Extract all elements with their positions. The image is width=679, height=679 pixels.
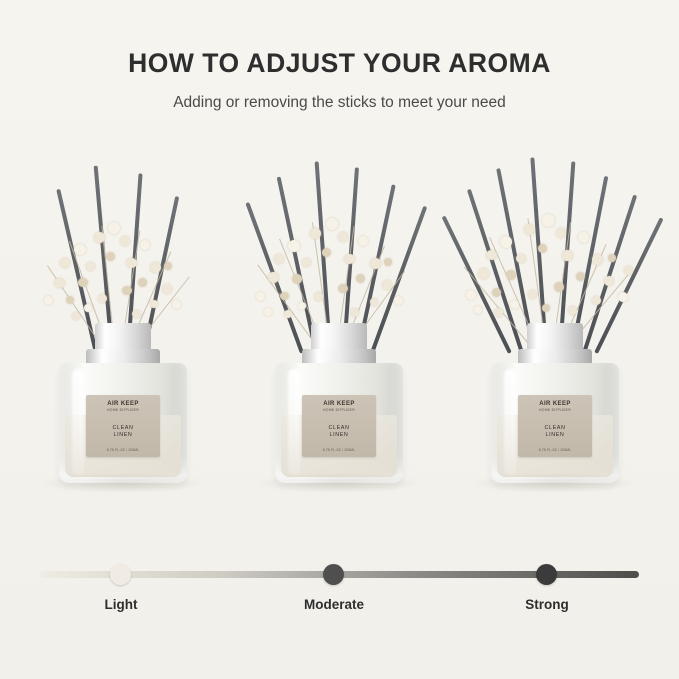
label-volume: 6.76 FL.OZ / 200ML — [107, 448, 139, 452]
product-group-moderate: AIR KEEP HOME DIFFUSER CLEAN LINEN 6.76 … — [234, 123, 444, 483]
intensity-slider[interactable] — [40, 567, 639, 581]
product-group-light: AIR KEEP HOME DIFFUSER CLEAN LINEN 6.76 … — [18, 123, 228, 483]
diffuser-bottle-moderate: AIR KEEP HOME DIFFUSER CLEAN LINEN 6.76 … — [275, 345, 403, 483]
bottle-body: AIR KEEP HOME DIFFUSER CLEAN LINEN 6.76 … — [59, 363, 187, 483]
slider-labels: Light Moderate Strong — [40, 597, 639, 617]
slider-label-strong: Strong — [525, 597, 569, 612]
product-group-strong: AIR KEEP HOME DIFFUSER CLEAN LINEN 6.76 … — [450, 123, 660, 483]
bottle-label: AIR KEEP HOME DIFFUSER CLEAN LINEN 6.76 … — [86, 395, 160, 457]
bottle-body: AIR KEEP HOME DIFFUSER CLEAN LINEN 6.76 … — [275, 363, 403, 483]
label-brand-sub: HOME DIFFUSER — [323, 408, 355, 412]
label-scent-line2: LINEN — [330, 432, 349, 439]
slider-knob-light[interactable] — [110, 564, 131, 585]
label-scent-line1: CLEAN — [545, 425, 566, 432]
label-brand-sub: HOME DIFFUSER — [107, 408, 139, 412]
label-scent-line2: LINEN — [546, 432, 565, 439]
label-volume: 6.76 FL.OZ / 200ML — [323, 448, 355, 452]
label-brand: AIR KEEP — [107, 401, 139, 407]
bottle-label: AIR KEEP HOME DIFFUSER CLEAN LINEN 6.76 … — [518, 395, 592, 457]
reed-sticks-light — [18, 123, 228, 353]
diffuser-bottle-light: AIR KEEP HOME DIFFUSER CLEAN LINEN 6.76 … — [59, 345, 187, 483]
label-scent-line1: CLEAN — [113, 425, 134, 432]
diffuser-bottle-strong: AIR KEEP HOME DIFFUSER CLEAN LINEN 6.76 … — [491, 345, 619, 483]
reed-stick — [582, 195, 637, 354]
label-volume: 6.76 FL.OZ / 200ML — [539, 448, 571, 452]
slider-label-moderate: Moderate — [304, 597, 364, 612]
label-scent-line2: LINEN — [114, 432, 133, 439]
label-brand-sub: HOME DIFFUSER — [539, 408, 571, 412]
bottle-shadow — [254, 473, 424, 493]
bottle-shadow — [38, 473, 208, 493]
poster-canvas: HOW TO ADJUST YOUR AROMA Adding or remov… — [0, 0, 679, 679]
slider-label-light: Light — [105, 597, 138, 612]
reed-stick — [56, 189, 98, 354]
label-brand: AIR KEEP — [539, 401, 571, 407]
bottle-body: AIR KEEP HOME DIFFUSER CLEAN LINEN 6.76 … — [491, 363, 619, 483]
reed-sticks-moderate — [234, 123, 444, 353]
page-title: HOW TO ADJUST YOUR AROMA — [0, 48, 679, 79]
reed-sticks-strong — [450, 123, 660, 353]
bottle-label: AIR KEEP HOME DIFFUSER CLEAN LINEN 6.76 … — [302, 395, 376, 457]
bottle-shadow — [470, 473, 640, 493]
slider-knob-moderate[interactable] — [323, 564, 344, 585]
label-brand: AIR KEEP — [323, 401, 355, 407]
label-scent-line1: CLEAN — [329, 425, 350, 432]
page-subtitle: Adding or removing the sticks to meet yo… — [0, 94, 679, 112]
reed-stick — [370, 206, 427, 354]
slider-knob-strong[interactable] — [536, 564, 557, 585]
reed-stick — [245, 202, 303, 354]
